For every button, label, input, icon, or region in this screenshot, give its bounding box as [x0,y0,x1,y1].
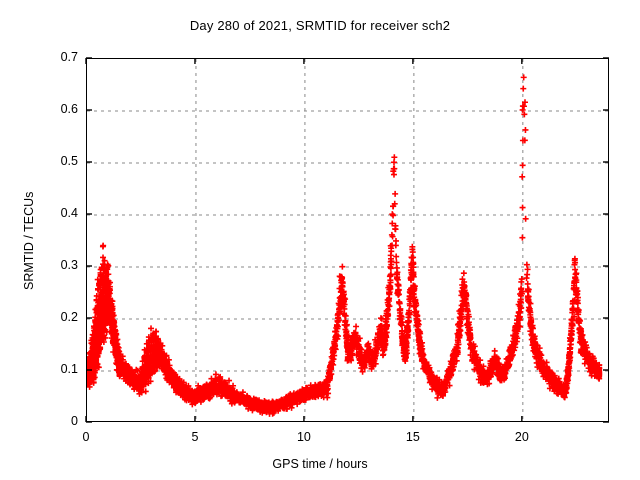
y-tick-label: 0 [28,414,78,428]
x-axis-label: GPS time / hours [0,457,640,471]
y-tick-label: 0.4 [28,206,78,220]
x-tick-label: 15 [393,430,433,444]
chart-figure: Day 280 of 2021, SRMTID for receiver sch… [0,0,640,480]
data-points [87,59,610,423]
y-tick-label: 0.6 [28,102,78,116]
x-tick-label: 10 [284,430,324,444]
y-tick-label: 0.2 [28,310,78,324]
y-tick-label: 0.5 [28,154,78,168]
y-tick-label: 0.3 [28,258,78,272]
x-tick-label: 20 [502,430,542,444]
plot-canvas [87,59,610,423]
y-tick-label: 0.1 [28,362,78,376]
plot-area [86,58,609,422]
chart-title: Day 280 of 2021, SRMTID for receiver sch… [0,18,640,33]
x-tick-label: 0 [66,430,106,444]
y-tick-label: 0.7 [28,50,78,64]
x-tick-label: 5 [175,430,215,444]
